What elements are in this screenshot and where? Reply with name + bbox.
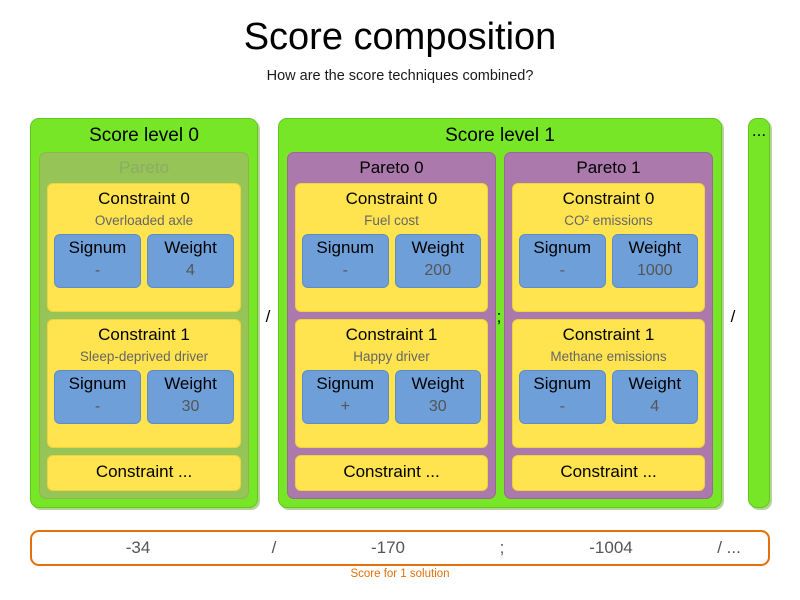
signum-label: Signum bbox=[305, 236, 386, 260]
constraint-card[interactable]: Constraint 0 Overloaded axle Signum - We… bbox=[47, 183, 241, 312]
weight-label: Weight bbox=[615, 236, 696, 260]
constraint-attributes: Signum - Weight 1000 bbox=[519, 234, 698, 288]
pareto-title-level0-0: Pareto bbox=[47, 155, 241, 183]
signum-value: + bbox=[305, 396, 386, 418]
signum-label: Signum bbox=[522, 236, 603, 260]
weight-box[interactable]: Weight 30 bbox=[147, 370, 234, 424]
pareto-group-level1-1: Pareto 1 Constraint 0 CO² emissions Sign… bbox=[504, 152, 713, 499]
score-summary-bar: -34 / -170 ; -1004 / ... bbox=[30, 530, 770, 566]
constraint-name: Constraint 1 bbox=[54, 323, 234, 347]
constraint-list-level1-1: Constraint 0 CO² emissions Signum - Weig… bbox=[512, 183, 705, 491]
constraint-card[interactable]: Constraint 1 Methane emissions Signum - … bbox=[512, 319, 705, 448]
pareto-row-level-0: Pareto Constraint 0 Overloaded axle Sign… bbox=[39, 152, 249, 499]
constraint-attributes: Signum - Weight 200 bbox=[302, 234, 481, 288]
score-level-0-title: Score level 0 bbox=[31, 119, 257, 148]
separator-level1-more: / bbox=[723, 307, 743, 327]
constraint-more-card[interactable]: Constraint ... bbox=[47, 455, 241, 491]
constraint-name: Constraint 0 bbox=[54, 187, 234, 211]
weight-label: Weight bbox=[150, 372, 231, 396]
signum-value: - bbox=[522, 396, 603, 418]
weight-box[interactable]: Weight 30 bbox=[395, 370, 482, 424]
constraint-card[interactable]: Constraint 1 Sleep-deprived driver Signu… bbox=[47, 319, 241, 448]
weight-label: Weight bbox=[398, 372, 479, 396]
score-level-more-panel[interactable]: ... bbox=[748, 118, 770, 508]
constraint-attributes: Signum - Weight 4 bbox=[519, 370, 698, 424]
signum-value: - bbox=[57, 260, 138, 282]
constraint-card[interactable]: Constraint 0 Fuel cost Signum - Weight 2… bbox=[295, 183, 488, 312]
pareto-title-level1-1: Pareto 1 bbox=[512, 155, 705, 183]
constraint-description: Methane emissions bbox=[519, 347, 698, 367]
signum-box[interactable]: Signum - bbox=[302, 234, 389, 288]
constraint-name: Constraint 0 bbox=[302, 187, 481, 211]
constraint-description: Overloaded axle bbox=[54, 211, 234, 231]
score-more: / ... bbox=[690, 538, 768, 558]
signum-box[interactable]: Signum + bbox=[302, 370, 389, 424]
signum-value: - bbox=[305, 260, 386, 282]
constraint-more-label: Constraint ... bbox=[54, 460, 234, 484]
score-caption: Score for 1 solution bbox=[30, 568, 770, 580]
constraint-more-card[interactable]: Constraint ... bbox=[295, 455, 488, 491]
pareto-group-level0-0: Pareto Constraint 0 Overloaded axle Sign… bbox=[39, 152, 249, 499]
score-level-1-title: Score level 1 bbox=[279, 119, 721, 148]
constraint-attributes: Signum + Weight 30 bbox=[302, 370, 481, 424]
score-level-0-panel: Score level 0 Pareto Constraint 0 Overlo… bbox=[30, 118, 258, 508]
constraint-description: CO² emissions bbox=[519, 211, 698, 231]
constraint-card[interactable]: Constraint 0 CO² emissions Signum - Weig… bbox=[512, 183, 705, 312]
constraint-list-level0-0: Constraint 0 Overloaded axle Signum - We… bbox=[47, 183, 241, 491]
weight-value: 200 bbox=[398, 260, 479, 282]
pareto-group-level1-0: Pareto 0 Constraint 0 Fuel cost Signum -… bbox=[287, 152, 496, 499]
signum-box[interactable]: Signum - bbox=[54, 234, 141, 288]
weight-box[interactable]: Weight 4 bbox=[147, 234, 234, 288]
weight-label: Weight bbox=[398, 236, 479, 260]
weight-value: 30 bbox=[150, 396, 231, 418]
signum-label: Signum bbox=[305, 372, 386, 396]
weight-box[interactable]: Weight 4 bbox=[612, 370, 699, 424]
constraint-description: Sleep-deprived driver bbox=[54, 347, 234, 367]
weight-box[interactable]: Weight 200 bbox=[395, 234, 482, 288]
signum-box[interactable]: Signum - bbox=[519, 234, 606, 288]
weight-box[interactable]: Weight 1000 bbox=[612, 234, 699, 288]
constraint-description: Happy driver bbox=[302, 347, 481, 367]
signum-box[interactable]: Signum - bbox=[54, 370, 141, 424]
separator-level0-level1: / bbox=[258, 307, 278, 327]
constraint-description: Fuel cost bbox=[302, 211, 481, 231]
diagram-canvas: Score composition How are the score tech… bbox=[0, 0, 800, 600]
score-value-level0: -34 bbox=[32, 538, 244, 558]
constraint-list-level1-0: Constraint 0 Fuel cost Signum - Weight 2… bbox=[295, 183, 488, 491]
weight-label: Weight bbox=[150, 236, 231, 260]
signum-value: - bbox=[522, 260, 603, 282]
weight-value: 4 bbox=[150, 260, 231, 282]
weight-value: 4 bbox=[615, 396, 696, 418]
signum-label: Signum bbox=[57, 236, 138, 260]
signum-value: - bbox=[57, 396, 138, 418]
score-separator-2: ; bbox=[472, 538, 532, 558]
constraint-attributes: Signum - Weight 4 bbox=[54, 234, 234, 288]
constraint-name: Constraint 0 bbox=[519, 187, 698, 211]
signum-label: Signum bbox=[522, 372, 603, 396]
constraint-name: Constraint 1 bbox=[519, 323, 698, 347]
constraint-card[interactable]: Constraint 1 Happy driver Signum + Weigh… bbox=[295, 319, 488, 448]
weight-value: 1000 bbox=[615, 260, 696, 282]
constraint-name: Constraint 1 bbox=[302, 323, 481, 347]
constraint-more-label: Constraint ... bbox=[302, 460, 481, 484]
score-separator-1: / bbox=[244, 538, 304, 558]
weight-value: 30 bbox=[398, 396, 479, 418]
signum-label: Signum bbox=[57, 372, 138, 396]
signum-box[interactable]: Signum - bbox=[519, 370, 606, 424]
constraint-more-label: Constraint ... bbox=[519, 460, 698, 484]
constraint-attributes: Signum - Weight 30 bbox=[54, 370, 234, 424]
constraint-more-card[interactable]: Constraint ... bbox=[512, 455, 705, 491]
page-title: Score composition bbox=[0, 16, 800, 59]
weight-label: Weight bbox=[615, 372, 696, 396]
score-value-pareto1: -1004 bbox=[532, 538, 690, 558]
score-value-pareto0: -170 bbox=[304, 538, 472, 558]
pareto-title-level1-0: Pareto 0 bbox=[295, 155, 488, 183]
page-subtitle: How are the score techniques combined? bbox=[0, 68, 800, 84]
score-level-more-ellipsis: ... bbox=[749, 119, 769, 141]
separator-pareto0-pareto1: ; bbox=[489, 307, 509, 327]
